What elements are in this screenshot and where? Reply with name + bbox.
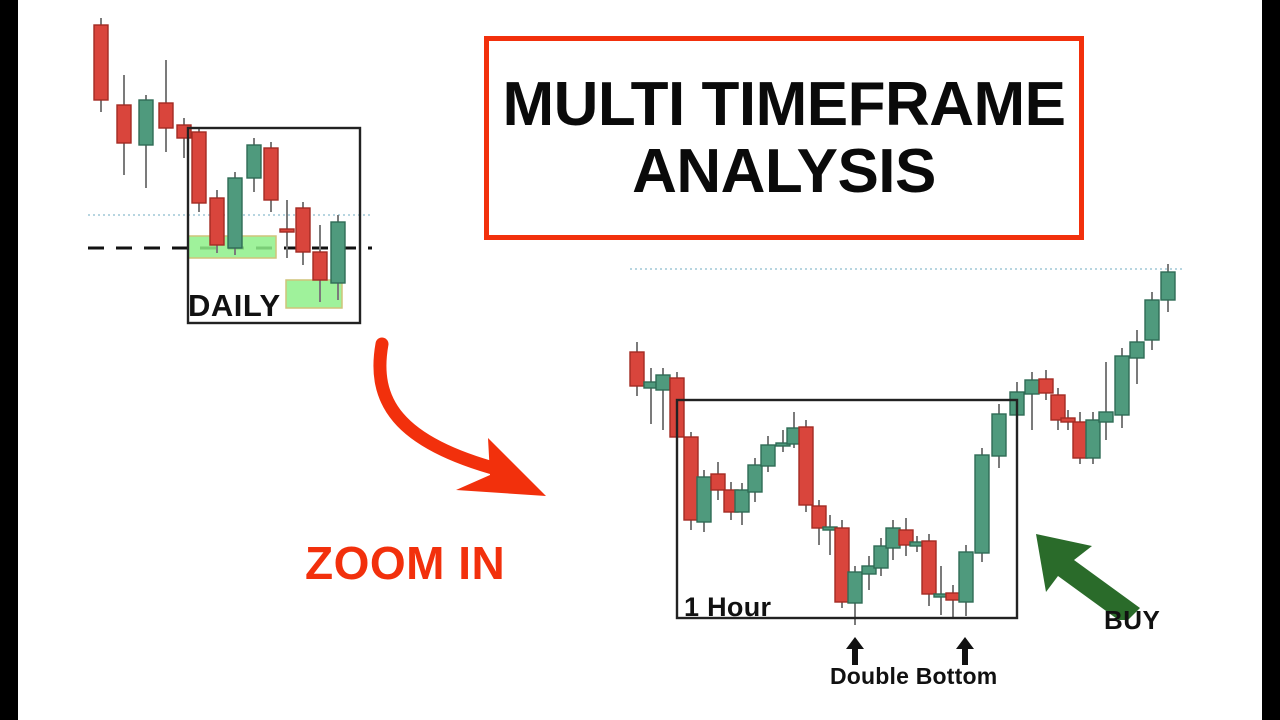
zoom-in-label: ZOOM IN: [305, 536, 505, 590]
buy-label: BUY: [1104, 605, 1160, 636]
candle: [159, 60, 173, 152]
candle: [1099, 362, 1113, 440]
candle: [975, 448, 989, 562]
pointer-double-bottom-left: [846, 637, 864, 665]
candle: [761, 436, 775, 472]
candle: [139, 95, 153, 188]
candle: [247, 138, 261, 192]
candle: [94, 18, 108, 112]
pointer-double-bottom-right: [956, 637, 974, 665]
candle: [296, 202, 310, 265]
candle: [630, 342, 644, 396]
candle: [264, 142, 278, 212]
candle: [684, 432, 698, 530]
candle: [946, 585, 960, 618]
zone-demand-zone-2: [286, 280, 342, 308]
candle: [959, 545, 973, 616]
candle: [210, 190, 224, 253]
daily-timeframe-label: DAILY: [188, 288, 281, 324]
infographic-canvas: MULTI TIMEFRAME ANALYSIS DAILY 1 Hour ZO…: [0, 0, 1280, 720]
candle: [697, 470, 711, 532]
candle: [1025, 372, 1039, 430]
candle: [117, 75, 131, 175]
candle: [899, 518, 913, 556]
title-line-1: MULTI TIMEFRAME: [502, 73, 1065, 136]
one-hour-timeframe-label: 1 Hour: [684, 592, 771, 623]
candle: [1145, 292, 1159, 350]
candle: [1130, 330, 1144, 384]
title-box: MULTI TIMEFRAME ANALYSIS: [484, 36, 1084, 240]
candle: [992, 404, 1006, 468]
candle: [1051, 388, 1065, 430]
letterbox-right: [1262, 0, 1280, 720]
candle: [848, 566, 862, 625]
candle: [656, 368, 670, 430]
double-bottom-label: Double Bottom: [830, 663, 997, 690]
candle: [1161, 264, 1175, 312]
candle: [192, 128, 206, 212]
title-line-2: ANALYSIS: [632, 140, 936, 203]
candle: [812, 500, 826, 545]
candle: [1115, 348, 1129, 428]
candle: [711, 462, 725, 500]
candle: [835, 520, 849, 608]
candle: [748, 458, 762, 502]
candle: [1086, 412, 1100, 464]
candle: [228, 172, 242, 255]
zoom-in-arrow: [350, 330, 580, 530]
candle: [799, 420, 813, 512]
candle: [735, 483, 749, 525]
